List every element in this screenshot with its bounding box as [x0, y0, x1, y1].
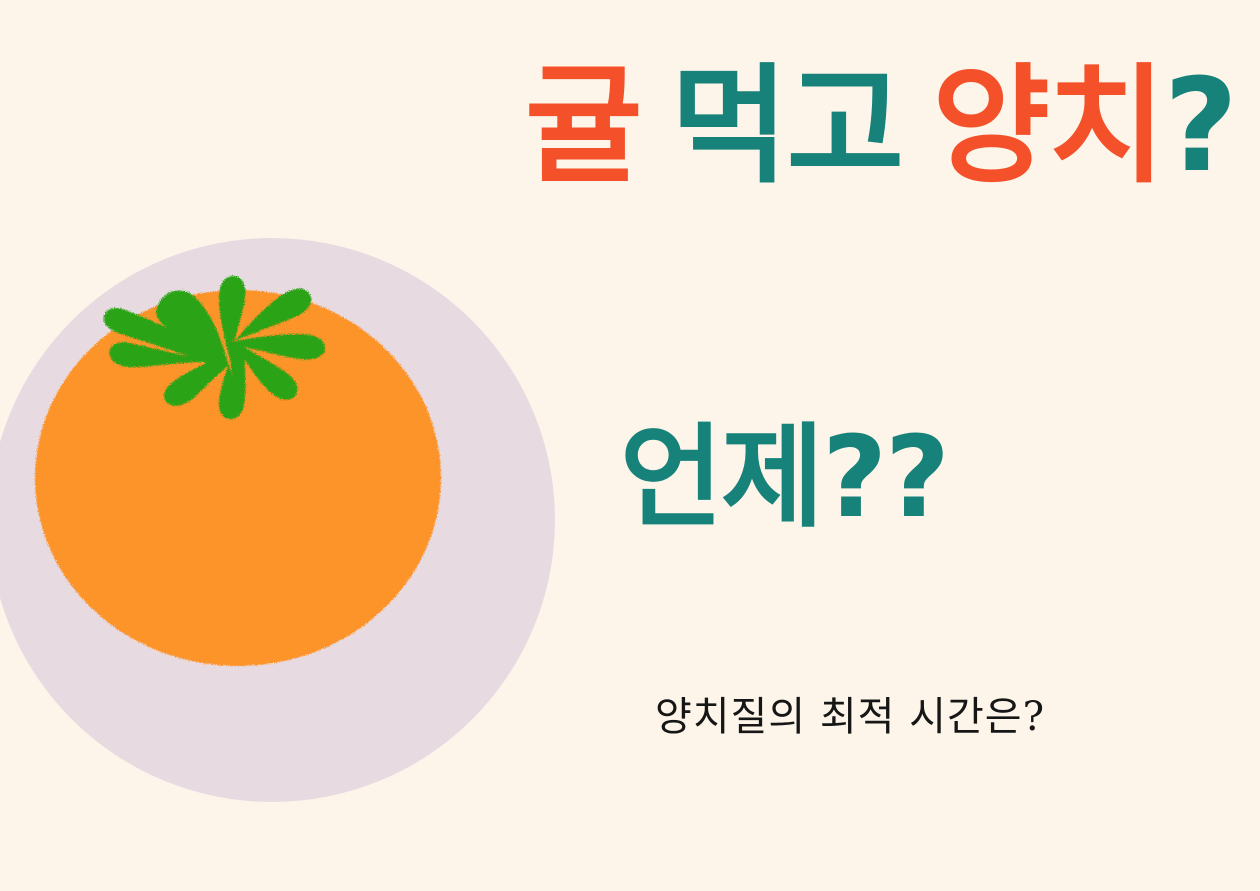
- orange-fruit-body: [35, 290, 441, 666]
- subheadline-text: 언제??: [620, 422, 948, 534]
- green-leaf-calyx: [104, 276, 325, 419]
- title-segment-yangchi: 양치: [932, 63, 1164, 191]
- title-segment-question-mark: ?: [1164, 63, 1236, 191]
- caption: 양치질의 최적 시간은?: [600, 678, 1100, 748]
- title-segment-gyul: 귤: [525, 63, 641, 191]
- subheadline: 언제??: [620, 398, 1090, 558]
- lavender-circle-backdrop: [0, 238, 555, 802]
- poster-canvas: 귤 먹고 양치 ? 언제?? 양치질의 최적 시간은?: [0, 0, 1260, 891]
- caption-text: 양치질의 최적 시간은?: [655, 684, 1045, 742]
- page-title: 귤 먹고 양치 ?: [386, 42, 1236, 212]
- title-segment-meokgo: 먹고: [671, 63, 903, 191]
